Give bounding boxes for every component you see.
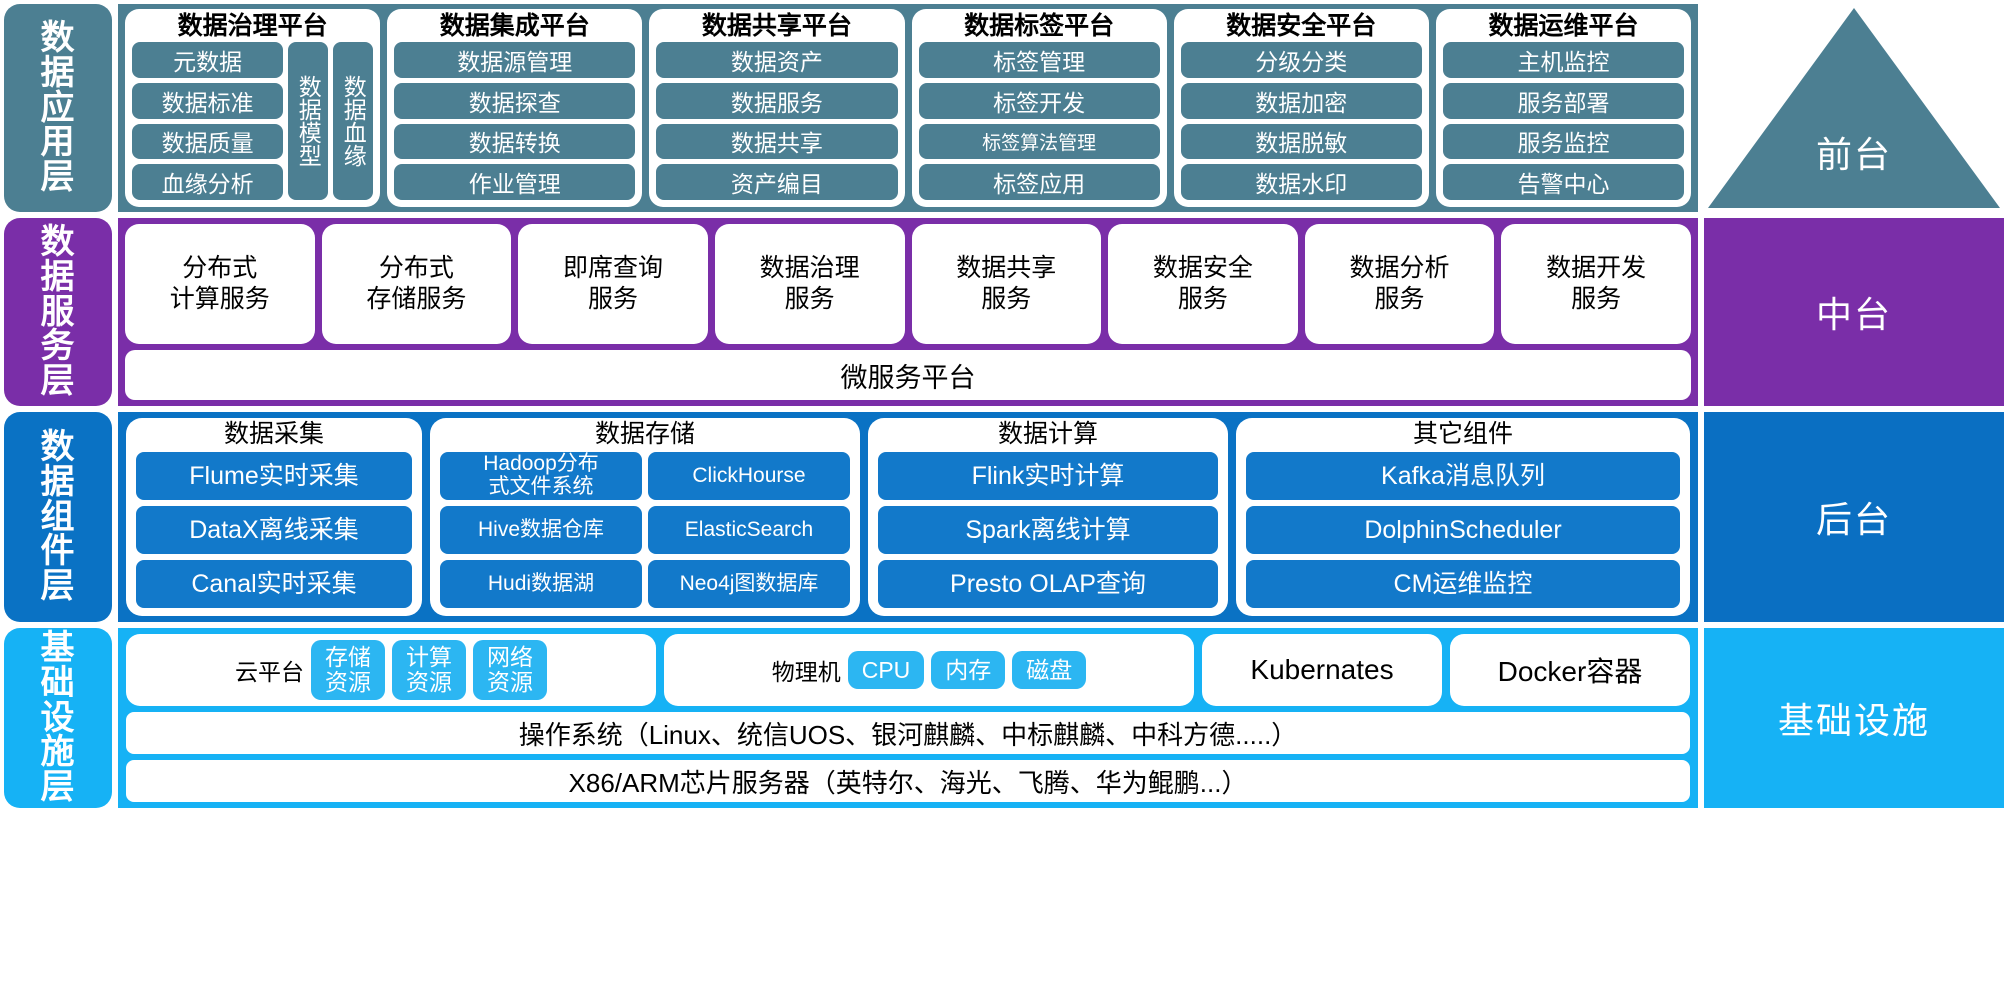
platform-card-data-security[interactable]: 数据安全平台 分级分类 数据加密 数据脱敏 数据水印 [1174,9,1429,207]
cloud-platform-label: 云平台 [235,653,304,687]
service-card-data-governance[interactable]: 数据治理服务 [715,224,905,344]
layer-infrastructure: 基础设施层 云平台 存储资源 计算资源 网络资源 物理机 CPU 内存 磁盘 K… [4,628,2004,808]
layer-label-data-application: 数据应用层 [4,4,112,212]
right-label-midstage: 中台 [1704,218,2004,406]
group-title: 数据计算 [998,419,1098,449]
layer-1-band: 数据治理平台 元数据 数据标准 数据质量 血缘分析 数据模型 数据血缘 数据集成… [118,4,1698,212]
physical-chip-memory[interactable]: 内存 [931,651,1005,690]
service-card-distributed-compute[interactable]: 分布式计算服务 [125,224,315,344]
component-chip[interactable]: Spark离线计算 [878,506,1218,554]
component-chip[interactable]: Flume实时采集 [136,452,412,500]
right-column-frontstage: 前台 [1704,4,2004,212]
kubernetes-label: Kubernates [1250,654,1393,686]
platform-chip[interactable]: 数据源管理 [394,42,635,78]
platform-chip-vertical[interactable]: 数据血缘 [333,42,373,200]
component-chip[interactable]: Presto OLAP查询 [878,560,1218,608]
platform-chip[interactable]: 数据脱敏 [1181,124,1422,160]
component-chip[interactable]: Hive数据仓库 [440,506,642,554]
platform-chip[interactable]: 数据共享 [656,124,897,160]
layer-data-service: 数据服务层 分布式计算服务 分布式存储服务 即席查询服务 数据治理服务 数据共享… [4,218,2004,406]
layer-label-data-service: 数据服务层 [4,218,112,406]
service-row: 分布式计算服务 分布式存储服务 即席查询服务 数据治理服务 数据共享服务 数据安… [125,224,1691,344]
group-title: 数据存储 [595,419,695,449]
component-group-data-collection[interactable]: 数据采集 Flume实时采集 DataX离线采集 Canal实时采集 [126,418,422,616]
right-label-backstage: 后台 [1704,412,2004,622]
cloud-chip-compute[interactable]: 计算资源 [392,640,466,700]
component-group-other[interactable]: 其它组件 Kafka消息队列 DolphinScheduler CM运维监控 [1236,418,1690,616]
layer-data-component: 数据组件层 数据采集 Flume实时采集 DataX离线采集 Canal实时采集… [4,412,2004,622]
service-card-data-sharing[interactable]: 数据共享服务 [912,224,1102,344]
platform-card-data-governance[interactable]: 数据治理平台 元数据 数据标准 数据质量 血缘分析 数据模型 数据血缘 [125,9,380,207]
service-card-data-analysis[interactable]: 数据分析服务 [1305,224,1495,344]
platform-chip[interactable]: 服务监控 [1443,124,1684,160]
component-group-data-compute[interactable]: 数据计算 Flink实时计算 Spark离线计算 Presto OLAP查询 [868,418,1228,616]
platform-title: 数据治理平台 [178,12,328,40]
platform-title: 数据安全平台 [1226,12,1376,40]
microservice-platform-bar[interactable]: 微服务平台 [125,350,1691,400]
component-chip[interactable]: Neo4j图数据库 [648,560,850,608]
component-chip[interactable]: ElasticSearch [648,506,850,554]
layer-data-application: 数据应用层 数据治理平台 元数据 数据标准 数据质量 血缘分析 数据模型 数据血… [4,4,2004,212]
docker-box[interactable]: Docker容器 [1450,634,1690,706]
platform-chip[interactable]: 血缘分析 [132,164,283,200]
platform-chip[interactable]: 标签开发 [919,83,1160,119]
platform-title: 数据共享平台 [702,12,852,40]
platform-chip[interactable]: 资产编目 [656,164,897,200]
cloud-chip-storage[interactable]: 存储资源 [311,640,385,700]
component-chip[interactable]: CM运维监控 [1246,560,1680,608]
platform-chip-vertical[interactable]: 数据模型 [288,42,328,200]
component-chip[interactable]: ClickHourse [648,452,850,500]
right-column-midstage: 中台 [1704,218,2004,406]
layer-label-infrastructure: 基础设施层 [4,628,112,808]
service-card-adhoc-query[interactable]: 即席查询服务 [518,224,708,344]
platform-card-data-operations[interactable]: 数据运维平台 主机监控 服务部署 服务监控 告警中心 [1436,9,1691,207]
component-chip[interactable]: DolphinScheduler [1246,506,1680,554]
platform-chip[interactable]: 数据转换 [394,124,635,160]
operating-system-bar[interactable]: 操作系统（Linux、统信UOS、银河麒麟、中标麒麟、中科方德.....） [126,712,1690,754]
platform-chip[interactable]: 数据探查 [394,83,635,119]
component-chip[interactable]: Hudi数据湖 [440,560,642,608]
platform-chip[interactable]: 告警中心 [1443,164,1684,200]
platform-card-data-sharing[interactable]: 数据共享平台 数据资产 数据服务 数据共享 资产编目 [649,9,904,207]
group-title: 其它组件 [1413,419,1513,449]
physical-chip-cpu[interactable]: CPU [848,651,925,690]
component-chip[interactable]: Kafka消息队列 [1246,452,1680,500]
chip-server-bar[interactable]: X86/ARM芯片服务器（英特尔、海光、飞腾、华为鲲鹏...） [126,760,1690,802]
component-chip[interactable]: Flink实时计算 [878,452,1218,500]
component-chip[interactable]: Canal实时采集 [136,560,412,608]
platform-chip[interactable]: 数据服务 [656,83,897,119]
service-card-data-security[interactable]: 数据安全服务 [1108,224,1298,344]
triangle-shape: 前台 [1704,4,2004,212]
infrastructure-resource-row: 云平台 存储资源 计算资源 网络资源 物理机 CPU 内存 磁盘 Kuberna… [126,634,1690,706]
layer-2-band: 分布式计算服务 分布式存储服务 即席查询服务 数据治理服务 数据共享服务 数据安… [118,218,1698,406]
platform-chip[interactable]: 数据质量 [132,124,283,160]
platform-chip[interactable]: 标签应用 [919,164,1160,200]
group-title: 数据采集 [224,419,324,449]
right-label-frontstage: 前台 [1816,126,1892,178]
component-group-data-storage[interactable]: 数据存储 Hadoop分布式文件系统 Hive数据仓库 Hudi数据湖 Clic… [430,418,860,616]
platform-title: 数据运维平台 [1488,12,1638,40]
service-card-distributed-storage[interactable]: 分布式存储服务 [322,224,512,344]
platform-chip[interactable]: 分级分类 [1181,42,1422,78]
layer-label-data-component: 数据组件层 [4,412,112,622]
platform-chip[interactable]: 数据水印 [1181,164,1422,200]
kubernetes-box[interactable]: Kubernates [1202,634,1442,706]
right-column-backstage: 后台 [1704,412,2004,622]
component-chip[interactable]: Hadoop分布式文件系统 [440,452,642,500]
platform-chip[interactable]: 标签算法管理 [919,124,1160,160]
cloud-platform-box[interactable]: 云平台 存储资源 计算资源 网络资源 [126,634,656,706]
platform-chip[interactable]: 服务部署 [1443,83,1684,119]
platform-chip[interactable]: 数据标准 [132,83,283,119]
docker-label: Docker容器 [1498,650,1643,690]
platform-title: 数据集成平台 [440,12,590,40]
platform-chip[interactable]: 元数据 [132,42,283,78]
component-chip[interactable]: DataX离线采集 [136,506,412,554]
platform-chip[interactable]: 数据加密 [1181,83,1422,119]
cloud-chip-network[interactable]: 网络资源 [473,640,547,700]
physical-chip-disk[interactable]: 磁盘 [1012,651,1086,690]
architecture-diagram: 数据应用层 数据治理平台 元数据 数据标准 数据质量 血缘分析 数据模型 数据血… [0,0,2010,1003]
layer-3-band: 数据采集 Flume实时采集 DataX离线采集 Canal实时采集 数据存储 … [118,412,1698,622]
platform-title: 数据标签平台 [964,12,1114,40]
platform-chip[interactable]: 主机监控 [1443,42,1684,78]
platform-card-data-integration[interactable]: 数据集成平台 数据源管理 数据探查 数据转换 作业管理 [387,9,642,207]
physical-machine-label: 物理机 [772,653,841,687]
physical-machine-box[interactable]: 物理机 CPU 内存 磁盘 [664,634,1194,706]
right-column-infrastructure: 基础设施 [1704,628,2004,808]
platform-chip[interactable]: 数据资产 [656,42,897,78]
platform-chip[interactable]: 作业管理 [394,164,635,200]
platform-chip[interactable]: 标签管理 [919,42,1160,78]
right-label-infrastructure: 基础设施 [1704,628,2004,808]
service-card-data-development[interactable]: 数据开发服务 [1501,224,1691,344]
platform-card-data-tagging[interactable]: 数据标签平台 标签管理 标签开发 标签算法管理 标签应用 [912,9,1167,207]
layer-4-band: 云平台 存储资源 计算资源 网络资源 物理机 CPU 内存 磁盘 Kuberna… [118,628,1698,808]
